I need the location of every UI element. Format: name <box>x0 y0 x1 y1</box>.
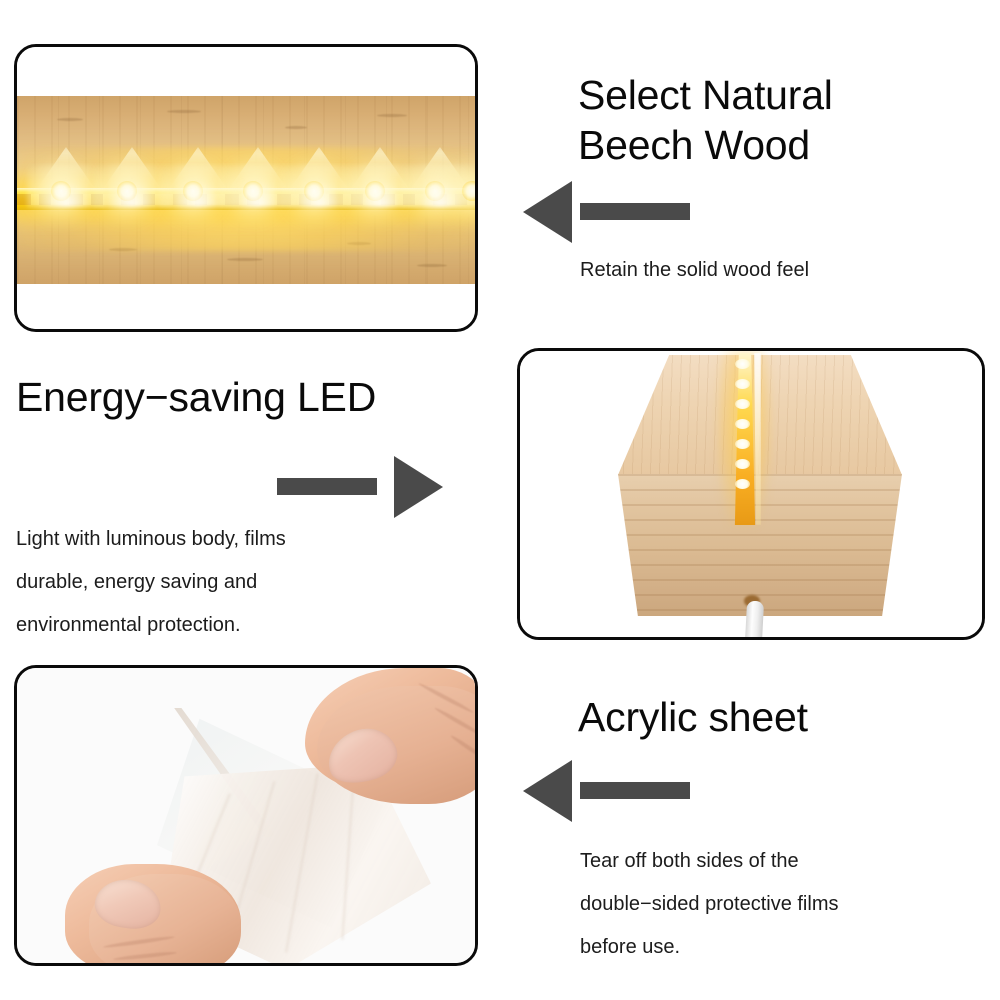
acrylic-sheet-subtext: Tear off both sides of the double−sided … <box>580 840 980 969</box>
arrow-left-bar <box>580 203 690 220</box>
beech-wood-subtext: Retain the solid wood feel <box>580 258 980 282</box>
photo-stage <box>520 351 982 637</box>
arrow-right-icon <box>394 456 443 518</box>
photo-stage <box>17 668 475 963</box>
arrow-left-icon <box>523 181 572 243</box>
power-cable <box>745 601 764 640</box>
energy-saving-led-heading: Energy−saving LED <box>16 372 496 422</box>
energy-saving-led-subtext: Light with luminous body, films durable,… <box>16 518 436 647</box>
beech-wood-heading: Select Natural Beech Wood <box>578 70 978 170</box>
arrow-left-icon <box>523 760 572 822</box>
arrow-left-bar <box>580 782 690 799</box>
wood-block-led-groove-photo <box>517 348 985 640</box>
infographic-page: Select Natural Beech Wood Retain the sol… <box>0 0 1000 1000</box>
led-strip-on-wood-photo <box>14 44 478 332</box>
acrylic-sheet-heading: Acrylic sheet <box>578 692 978 742</box>
photo-stage <box>17 47 475 329</box>
arrow-right-bar <box>277 478 377 495</box>
acrylic-film-peel-photo <box>14 665 478 966</box>
